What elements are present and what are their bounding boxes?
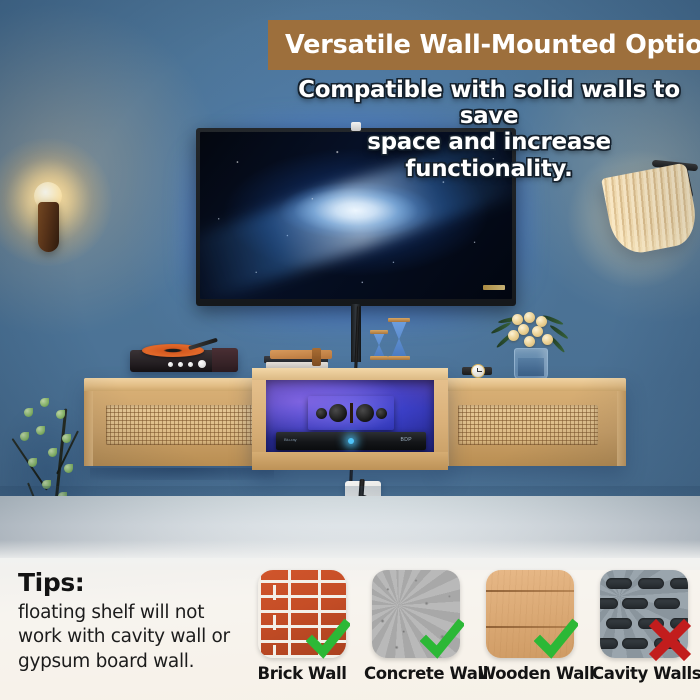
hourglass-cap-top <box>370 330 388 334</box>
panel-top-fade <box>0 540 700 570</box>
brick-swatch <box>258 570 346 658</box>
rose-bloom <box>524 336 535 347</box>
hourglass-cap-bottom <box>370 356 388 360</box>
plant-leaf <box>62 434 71 443</box>
console-drop-shadow <box>90 468 274 480</box>
subtitle-text: Compatible with solid walls to save spac… <box>282 77 696 182</box>
sconce-body <box>38 202 59 252</box>
wall-label-wooden: Wooden Wall <box>478 664 582 683</box>
hourglass-small <box>372 330 386 360</box>
cavity-hole <box>606 618 632 629</box>
turntable-knob <box>188 362 193 367</box>
product-infographic: Blu-ray BDP Versatile Wall-Mounted Optio… <box>0 0 700 700</box>
wall-sconce-light <box>30 182 66 254</box>
plant-leaf <box>40 398 49 407</box>
plant-leaf <box>20 432 29 441</box>
speaker-driver <box>329 404 347 422</box>
cavity-hole <box>654 598 680 609</box>
turntable-knob <box>168 362 173 367</box>
tips-panel: Tips: floating shelf will not work with … <box>0 558 700 700</box>
wall-label-concrete: Concrete Wall <box>364 664 468 683</box>
cavity-swatch <box>600 570 688 658</box>
speaker-driver <box>316 408 327 419</box>
wall-label-brick: Brick Wall <box>250 664 354 683</box>
stacked-books <box>264 348 336 370</box>
center-open-shelf: Blu-ray BDP <box>252 368 448 470</box>
tips-body-text: floating shelf will not work with cavity… <box>18 601 246 674</box>
player-power-led <box>348 438 354 444</box>
tv-brand-logo <box>483 285 505 290</box>
hourglass-large <box>390 318 408 360</box>
cavity-hole <box>670 578 688 589</box>
book-top-leather <box>270 350 332 359</box>
hourglass-cap-top <box>388 318 410 322</box>
rose-bloom <box>518 324 529 335</box>
wall-label-cavity: Cavity Walls <box>592 664 696 683</box>
check-icon <box>306 618 350 662</box>
plant-leaf <box>24 408 33 417</box>
wooden-speaker <box>308 396 394 430</box>
plant-leaf <box>48 448 57 457</box>
plant-leaf <box>36 426 45 435</box>
hourglass-glass <box>390 318 408 360</box>
turntable-knob <box>178 362 183 367</box>
brick-mortar-row <box>258 585 346 600</box>
rattan-cane-panel <box>458 405 598 445</box>
rose-bloom <box>508 330 519 341</box>
player-brand-label: BDP <box>401 437 412 443</box>
cabinet-edge-left <box>84 391 93 466</box>
cabinet-top-surface <box>84 378 280 391</box>
rose-bloom <box>524 312 535 323</box>
subtitle-line-2: space and increase functionality. <box>282 129 696 181</box>
wood-plank-seam <box>486 590 574 592</box>
wall-option-concrete[interactable]: Concrete Wall <box>364 570 468 694</box>
bluray-player: Blu-ray BDP <box>276 432 426 450</box>
plant-leaf <box>56 410 65 419</box>
wood-swatch <box>486 570 574 658</box>
banner-title: Versatile Wall-Mounted Optio <box>268 30 700 60</box>
led-lit-compartment: Blu-ray BDP <box>266 380 434 452</box>
tips-heading: Tips: <box>18 568 246 597</box>
turntable-dial <box>198 360 206 368</box>
speaker-driver <box>356 404 374 422</box>
check-icon <box>534 618 578 662</box>
cavity-hole <box>622 638 648 649</box>
left-cabinet <box>84 378 280 466</box>
tips-block: Tips: floating shelf will not work with … <box>18 568 246 674</box>
title-banner: Versatile Wall-Mounted Optio <box>268 20 700 70</box>
rose-bloom <box>542 334 553 345</box>
floating-tv-console: Blu-ray BDP <box>84 368 626 478</box>
speaker-divider <box>350 403 353 423</box>
subtitle-line-1: Compatible with solid walls to save <box>282 77 696 129</box>
player-disc-label: Blu-ray <box>284 437 297 442</box>
book-strap <box>312 348 321 366</box>
cavity-hole <box>600 638 618 649</box>
shelf-top-surface <box>252 368 448 380</box>
plant-leaf <box>28 458 37 467</box>
cabinet-edge-right <box>617 391 626 466</box>
hourglass-cap-bottom <box>388 356 410 360</box>
shelf-base <box>252 452 448 470</box>
cabinet-top-surface <box>440 378 626 391</box>
cavity-hole <box>638 578 664 589</box>
rose-bloom <box>532 326 543 337</box>
speaker-driver <box>376 408 387 419</box>
cavity-hole <box>606 578 632 589</box>
cavity-hole <box>622 598 648 609</box>
plant-leaf <box>64 464 73 473</box>
wall-compatibility-list: Brick Wall Concrete Wall <box>250 570 696 694</box>
check-icon <box>420 618 464 662</box>
wall-option-cavity[interactable]: Cavity Walls <box>592 570 696 694</box>
concrete-swatch <box>372 570 460 658</box>
cross-icon <box>648 618 692 662</box>
cavity-hole <box>600 598 618 609</box>
wall-option-brick[interactable]: Brick Wall <box>250 570 354 694</box>
right-cabinet <box>440 378 626 466</box>
rattan-cane-panel <box>106 405 258 445</box>
wall-option-wooden[interactable]: Wooden Wall <box>478 570 582 694</box>
